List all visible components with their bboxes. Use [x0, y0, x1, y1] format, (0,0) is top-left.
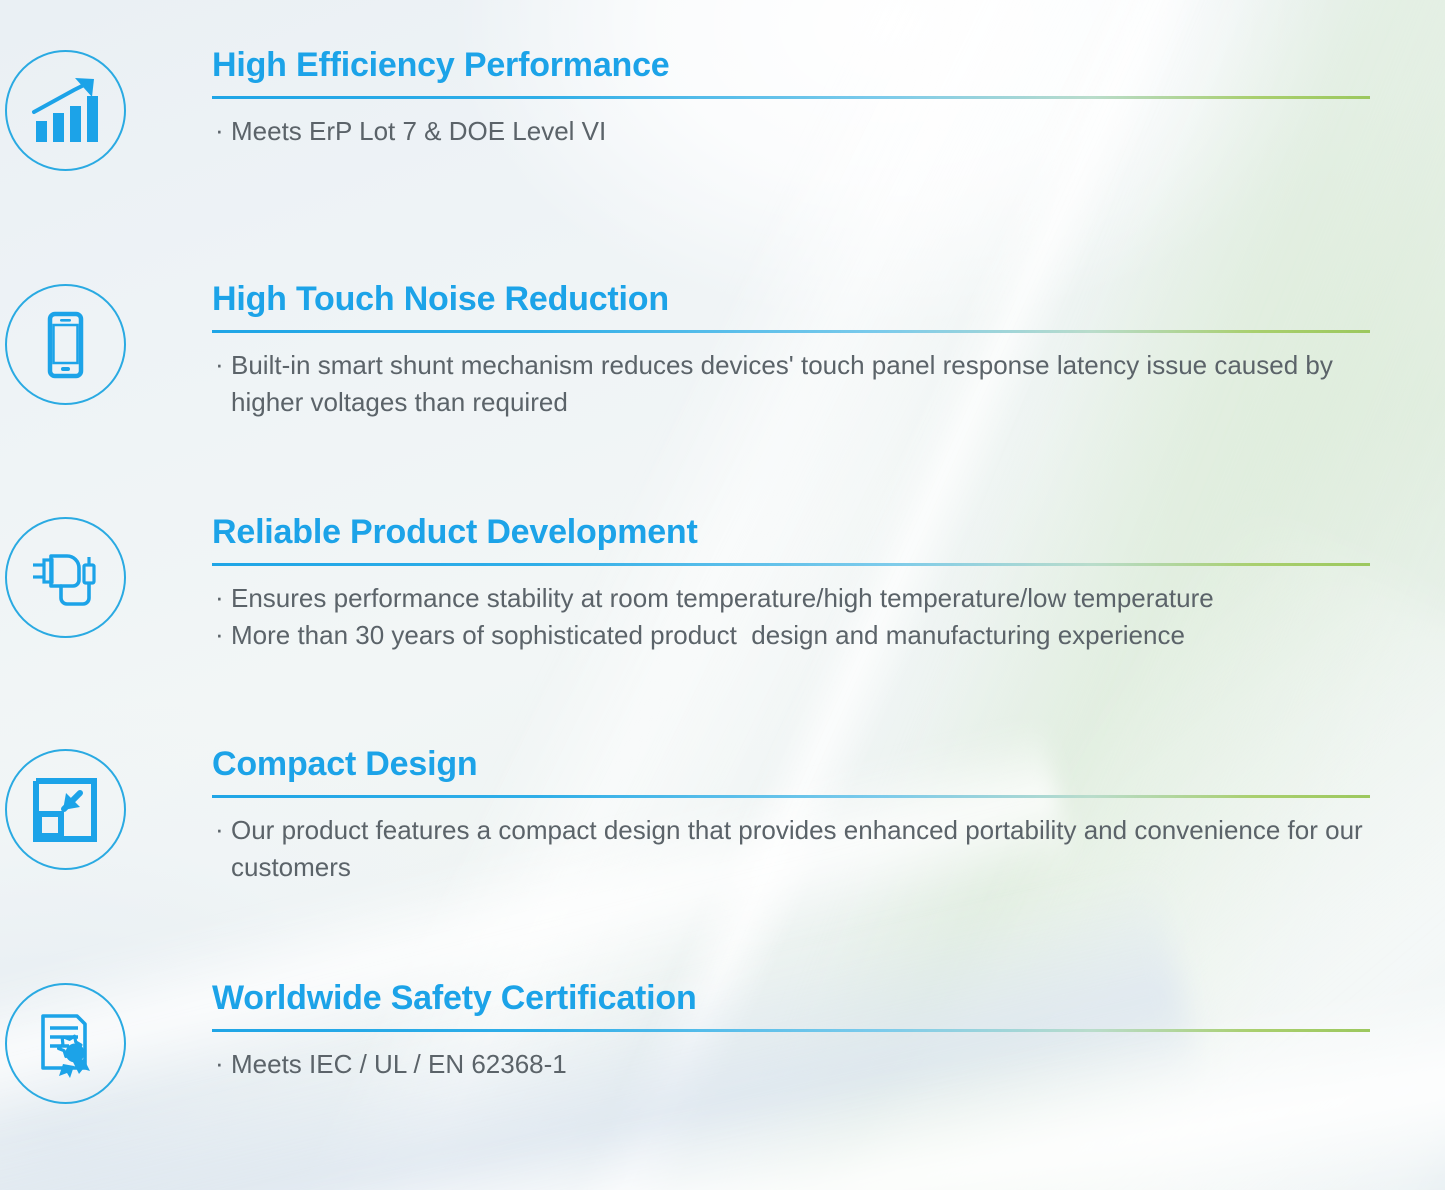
feature-body: Compact Design Our product features a co…	[130, 747, 1445, 887]
feature-bullet: Meets ErP Lot 7 & DOE Level VI	[212, 113, 1370, 150]
feature-icon-container	[0, 48, 130, 171]
feature-divider	[212, 563, 1370, 566]
feature-bullet-list: Built-in smart shunt mechanism reduces d…	[212, 347, 1370, 422]
icon-circle-frame	[5, 517, 126, 638]
icon-circle-frame	[5, 50, 126, 171]
feature-title: High Touch Noise Reduction	[212, 282, 1370, 318]
feature-bullet: More than 30 years of sophisticated prod…	[212, 617, 1370, 654]
feature-title: Worldwide Safety Certification	[212, 981, 1370, 1017]
feature-bullet-list: Our product features a compact design th…	[212, 812, 1370, 887]
feature-title: Reliable Product Development	[212, 515, 1370, 551]
feature-bullet: Ensures performance stability at room te…	[212, 580, 1370, 617]
feature-body: High Touch Noise Reduction Built-in smar…	[130, 282, 1445, 422]
feature-divider	[212, 96, 1370, 99]
certificate-award-icon	[29, 1008, 101, 1080]
feature-divider	[212, 795, 1370, 798]
feature-divider	[212, 330, 1370, 333]
icon-circle-frame	[5, 983, 126, 1104]
feature-body: Reliable Product Development Ensures per…	[130, 515, 1445, 655]
feature-item-worldwide-safety-certification: Worldwide Safety Certification Meets IEC…	[0, 981, 1445, 1104]
feature-bullet-list: Meets ErP Lot 7 & DOE Level VI	[212, 113, 1370, 150]
feature-bullet-list: Meets IEC / UL / EN 62368-1	[212, 1046, 1370, 1083]
power-adapter-icon	[27, 540, 103, 616]
feature-bullet: Built-in smart shunt mechanism reduces d…	[212, 347, 1370, 422]
icon-circle-frame	[5, 284, 126, 405]
feature-icon-container	[0, 282, 130, 405]
feature-icon-container	[0, 981, 130, 1104]
icon-circle-frame	[5, 749, 126, 870]
feature-item-reliable-product-development: Reliable Product Development Ensures per…	[0, 515, 1445, 655]
feature-divider	[212, 1029, 1370, 1032]
feature-body: Worldwide Safety Certification Meets IEC…	[130, 981, 1445, 1083]
feature-icon-container	[0, 747, 130, 870]
feature-title: Compact Design	[212, 747, 1370, 783]
feature-highlights-page: High Efficiency Performance Meets ErP Lo…	[0, 0, 1445, 1190]
feature-bullet: Meets IEC / UL / EN 62368-1	[212, 1046, 1370, 1083]
feature-title: High Efficiency Performance	[212, 48, 1370, 84]
smartphone-icon	[28, 308, 102, 382]
feature-bullet-list: Ensures performance stability at room te…	[212, 580, 1370, 655]
bar-chart-growth-icon	[28, 74, 102, 148]
compact-resize-icon	[30, 775, 100, 845]
feature-body: High Efficiency Performance Meets ErP Lo…	[130, 48, 1445, 150]
feature-bullet: Our product features a compact design th…	[212, 812, 1370, 887]
feature-item-high-touch-noise-reduction: High Touch Noise Reduction Built-in smar…	[0, 282, 1445, 422]
feature-item-compact-design: Compact Design Our product features a co…	[0, 747, 1445, 887]
feature-icon-container	[0, 515, 130, 638]
feature-item-high-efficiency-performance: High Efficiency Performance Meets ErP Lo…	[0, 48, 1445, 171]
